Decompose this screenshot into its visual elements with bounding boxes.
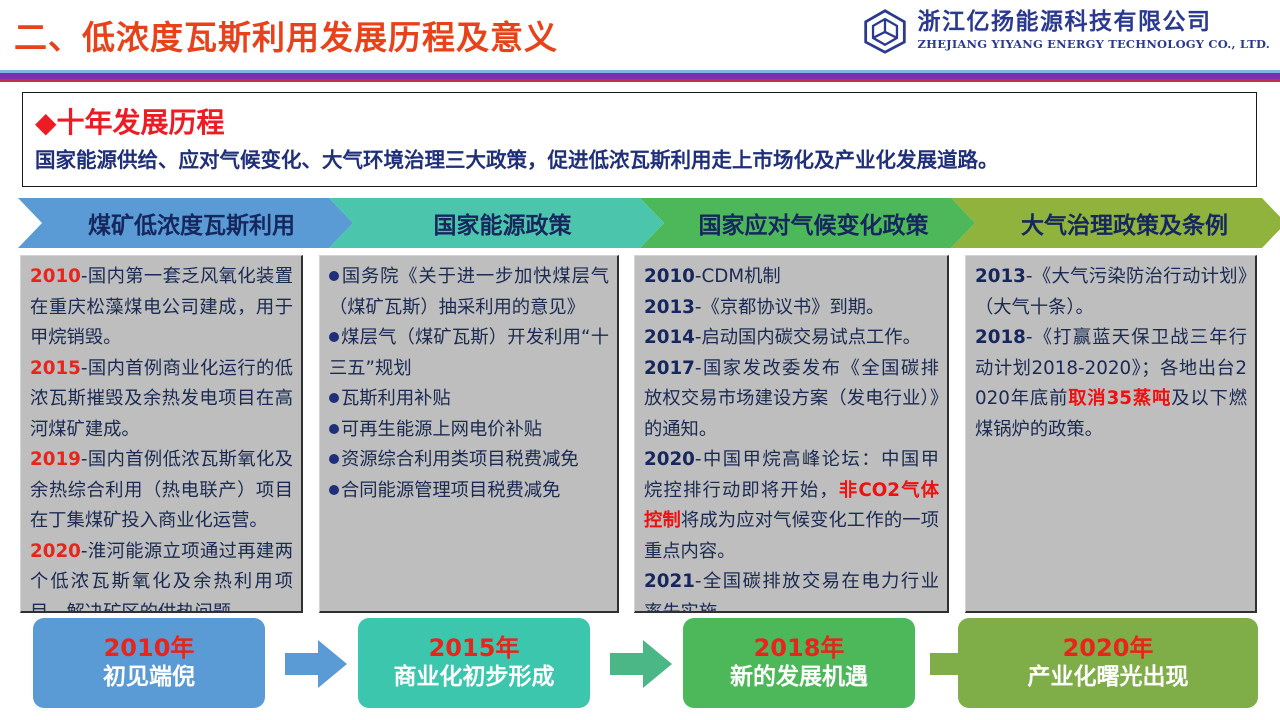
- chevron-banner-2[interactable]: 国家能源政策: [329, 198, 664, 248]
- entry-text-after: 将成为应对气候变化工作的一项重点内容。: [644, 510, 939, 562]
- entry-year: 2019: [30, 449, 81, 470]
- slide-header: 二、低浓度瓦斯利用发展历程及意义 浙江亿扬能源科技有限公司 ZHEJIANG Y…: [0, 0, 1280, 70]
- chevron-label-1: 煤矿低浓度瓦斯利用: [88, 206, 295, 240]
- entry-year: 2017: [644, 358, 695, 379]
- milestone-box-2015年[interactable]: 2015年商业化初步形成: [358, 618, 590, 708]
- intro-heading: ◆十年发展历程: [35, 101, 225, 141]
- chevron-label-2: 国家能源政策: [434, 206, 572, 240]
- chevron-banner-3[interactable]: 国家应对气候变化政策: [640, 198, 975, 248]
- entry-text: -CDM机制: [695, 266, 781, 287]
- content-column-coal-mine-low-concentration-gas-utilization: 2010-国内第一套乏风氧化装置在重庆松藻煤电公司建成，用于甲烷销毁。2015-…: [20, 255, 303, 613]
- bullet-dot-icon: [329, 393, 339, 403]
- milestone-year: 2020年: [1063, 633, 1154, 663]
- milestone-box-2018年[interactable]: 2018年新的发展机遇: [683, 618, 915, 708]
- bullet-text: 合同能源管理项目税费减免: [341, 480, 560, 501]
- milestone-box-2010年[interactable]: 2010年初见端倪: [33, 618, 265, 708]
- milestone-arrow-icon-2: [610, 640, 672, 688]
- content-column-national-climate-change-policy: 2010-CDM机制2013-《京都协议书》到期。2014-启动国内碳交易试点工…: [634, 255, 949, 613]
- entry-highlight: 取消35蒸吨: [1068, 388, 1171, 409]
- chevron-label-4: 大气治理政策及条例: [1021, 206, 1228, 240]
- chevron-banner-row: 煤矿低浓度瓦斯利用国家能源政策国家应对气候变化政策大气治理政策及条例: [18, 198, 1262, 248]
- chevron-banner-4[interactable]: 大气治理政策及条例: [951, 198, 1280, 248]
- bullet-dot-icon: [329, 424, 339, 434]
- chevron-banner-1[interactable]: 煤矿低浓度瓦斯利用: [18, 198, 353, 248]
- column-body-text: 2010-CDM机制2013-《京都协议书》到期。2014-启动国内碳交易试点工…: [644, 262, 939, 613]
- column-body-text: 2013-《大气污染防治行动计划》（大气十条）。2018-《打赢蓝天保卫战三年行…: [975, 262, 1247, 445]
- entry-year: 2010: [644, 266, 695, 287]
- bullet-text: 国务院《关于进一步加快煤层气（煤矿瓦斯）抽采利用的意见》: [329, 266, 609, 318]
- entry-text: -《京都协议书》到期。: [695, 297, 884, 318]
- entry-year: 2020: [644, 449, 695, 470]
- divider-stripe-red: [0, 79, 1280, 82]
- entry-year: 2021: [644, 571, 695, 592]
- bullet-dot-icon: [329, 485, 339, 495]
- content-column-air-pollution-control-policy: 2013-《大气污染防治行动计划》（大气十条）。2018-《打赢蓝天保卫战三年行…: [965, 255, 1257, 613]
- chevron-label-3: 国家应对气候变化政策: [699, 206, 929, 240]
- milestone-caption: 初见端倪: [103, 663, 195, 693]
- entry-year: 2010: [30, 266, 81, 287]
- milestone-arrow-icon-1: [285, 640, 347, 688]
- milestone-strip: 2010年初见端倪2015年商业化初步形成2018年新的发展机遇2020年产业化…: [0, 618, 1280, 718]
- content-column-national-energy-policy: 国务院《关于进一步加快煤层气（煤矿瓦斯）抽采利用的意见》煤层气（煤矿瓦斯）开发利…: [319, 255, 619, 613]
- bullet-dot-icon: [329, 271, 339, 281]
- company-name-cn: 浙江亿扬能源科技有限公司: [918, 11, 1270, 34]
- intro-subtitle: 国家能源供给、应对气候变化、大气环境治理三大政策，促进低浓瓦斯利用走上市场化及产…: [35, 143, 999, 173]
- entry-year: 2020: [30, 541, 81, 562]
- milestone-box-2020年[interactable]: 2020年产业化曙光出现: [958, 618, 1258, 708]
- milestone-year: 2010年: [104, 633, 195, 663]
- entry-year: 2013: [975, 266, 1026, 287]
- bullet-dot-icon: [329, 454, 339, 464]
- entry-year: 2018: [975, 327, 1026, 348]
- hexagon-cube-logo-icon: [862, 8, 908, 54]
- entry-year: 2015: [30, 358, 81, 379]
- entry-year: 2013: [644, 297, 695, 318]
- company-logo: 浙江亿扬能源科技有限公司 ZHEJIANG YIYANG ENERGY TECH…: [862, 8, 1270, 54]
- company-name-en: ZHEJIANG YIYANG ENERGY TECHNOLOGY CO., L…: [918, 39, 1270, 51]
- milestone-caption: 产业化曙光出现: [1028, 663, 1189, 693]
- column-body-text: 2010-国内第一套乏风氧化装置在重庆松藻煤电公司建成，用于甲烷销毁。2015-…: [30, 262, 293, 613]
- intro-box: ◆十年发展历程 国家能源供给、应对气候变化、大气环境治理三大政策，促进低浓瓦斯利…: [22, 92, 1257, 187]
- bullet-text: 可再生能源上网电价补贴: [341, 419, 542, 440]
- milestone-caption: 商业化初步形成: [394, 663, 555, 693]
- bullet-text: 煤层气（煤矿瓦斯）开发利用“十三五”规划: [329, 327, 609, 379]
- bullet-text: 瓦斯利用补贴: [341, 388, 451, 409]
- entry-text: -启动国内碳交易试点工作。: [695, 327, 921, 348]
- milestone-arrow-icon-3: [930, 640, 992, 688]
- bullet-text: 资源综合利用类项目税费减免: [341, 449, 579, 470]
- bullet-dot-icon: [329, 332, 339, 342]
- header-divider-bar: [0, 70, 1280, 82]
- column-body-text: 国务院《关于进一步加快煤层气（煤矿瓦斯）抽采利用的意见》煤层气（煤矿瓦斯）开发利…: [329, 262, 609, 506]
- entry-year: 2014: [644, 327, 695, 348]
- milestone-caption: 新的发展机遇: [730, 663, 868, 693]
- milestone-year: 2015年: [429, 633, 520, 663]
- milestone-year: 2018年: [754, 633, 845, 663]
- page-title: 二、低浓度瓦斯利用发展历程及意义: [14, 11, 558, 59]
